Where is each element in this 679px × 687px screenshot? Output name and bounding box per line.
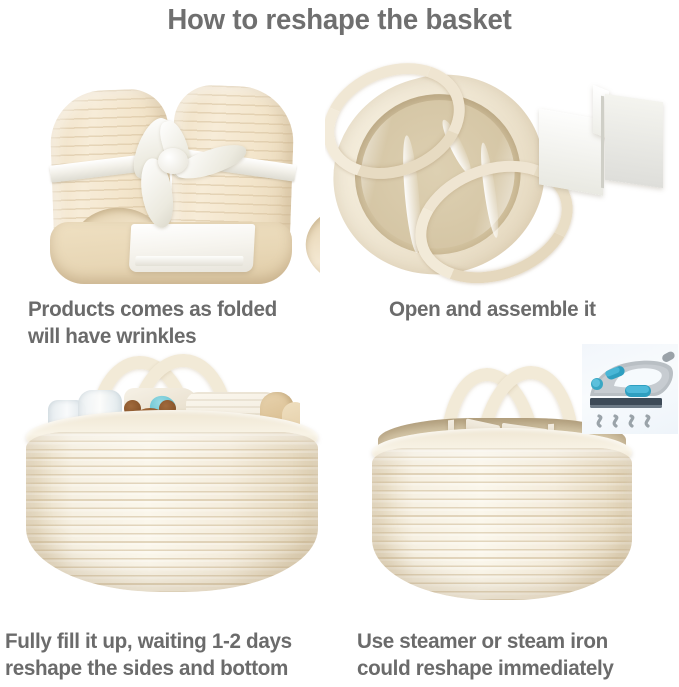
divider-panel-fin bbox=[593, 85, 609, 139]
compartment-divider bbox=[502, 423, 548, 455]
divider-boards bbox=[129, 224, 256, 272]
bear-eye-right bbox=[152, 430, 163, 441]
rope-handle-right bbox=[128, 351, 238, 435]
basket-contents bbox=[38, 386, 300, 466]
teal-toy bbox=[147, 393, 178, 421]
compartment-divider bbox=[448, 420, 454, 455]
liner-fold bbox=[400, 135, 424, 254]
rope-handle-upper bbox=[325, 60, 482, 199]
basket-liner bbox=[345, 84, 530, 265]
bear-muzzle bbox=[142, 439, 166, 456]
basket-rim bbox=[372, 428, 632, 476]
step-3-image bbox=[10, 350, 340, 622]
folded-roll-left bbox=[49, 88, 173, 274]
ribbon-bow-tail bbox=[172, 139, 250, 185]
step-2-caption: Open and assemble it bbox=[389, 296, 648, 323]
step-1-image bbox=[20, 62, 320, 290]
ribbon-band-left bbox=[49, 150, 178, 182]
roll-inner-right bbox=[304, 205, 320, 286]
divider-insert bbox=[539, 88, 663, 198]
step-1-caption: Products comes as folded will have wrink… bbox=[28, 296, 316, 350]
compartment-divider bbox=[466, 418, 500, 453]
divider-panel-right bbox=[605, 94, 663, 188]
open-basket-illustration bbox=[325, 60, 675, 290]
ribbon-bow-knot bbox=[158, 148, 188, 174]
ribbon-bow-loop bbox=[156, 118, 195, 180]
ribbon-bow-tail bbox=[137, 156, 176, 229]
baby-bottle bbox=[48, 400, 86, 462]
basket-body bbox=[26, 432, 318, 592]
bear-nose bbox=[149, 441, 158, 448]
folded-diapers bbox=[186, 392, 276, 462]
bear-ear-right bbox=[159, 400, 176, 417]
ribbon-band-right bbox=[169, 147, 296, 181]
divider-panel-left bbox=[539, 108, 603, 195]
filled-basket-illustration bbox=[10, 350, 340, 622]
compartment-divider bbox=[548, 424, 554, 454]
liner-fold bbox=[478, 142, 502, 239]
ribbon-bow-loop bbox=[127, 113, 175, 182]
divider-fold-edge bbox=[601, 96, 604, 188]
instruction-graphic: How to reshape the basket bbox=[0, 0, 679, 687]
steam-iron-icon bbox=[582, 344, 678, 434]
step-4-image bbox=[350, 340, 679, 622]
folded-base bbox=[50, 222, 292, 284]
step-2-image bbox=[325, 60, 675, 290]
step-4-caption: Use steamer or steam iron could reshape … bbox=[357, 628, 664, 682]
rope-handle-right bbox=[475, 362, 585, 458]
empty-basket-illustration bbox=[350, 340, 679, 622]
steam-iron-glyph bbox=[582, 344, 678, 434]
rope-handle-left bbox=[86, 353, 194, 435]
wooden-brush bbox=[282, 402, 300, 460]
open-basket-top-view bbox=[325, 60, 566, 290]
folded-roll-right bbox=[169, 84, 295, 274]
page-title: How to reshape the basket bbox=[17, 4, 662, 37]
basket-cavity bbox=[338, 77, 538, 272]
baby-bottle bbox=[78, 390, 122, 460]
basket-body bbox=[372, 448, 632, 600]
folded-cloth bbox=[124, 388, 198, 444]
bear-eye-left bbox=[137, 430, 148, 441]
liner-fold bbox=[438, 117, 475, 176]
rope-handle-lower bbox=[398, 140, 590, 290]
bear-head bbox=[128, 408, 172, 452]
step-3-caption: Fully fill it up, waiting 1-2 days resha… bbox=[5, 628, 341, 682]
basket-rim bbox=[26, 410, 318, 464]
bear-ear-left bbox=[124, 400, 141, 417]
folded-basket-illustration bbox=[20, 62, 320, 290]
roll-inner-left bbox=[71, 206, 166, 285]
rope-handle-left bbox=[435, 365, 541, 459]
wooden-brush bbox=[260, 392, 294, 458]
basket-interior bbox=[378, 418, 626, 466]
teddy-bear-toy bbox=[124, 402, 176, 454]
bottle-cap bbox=[96, 444, 116, 460]
